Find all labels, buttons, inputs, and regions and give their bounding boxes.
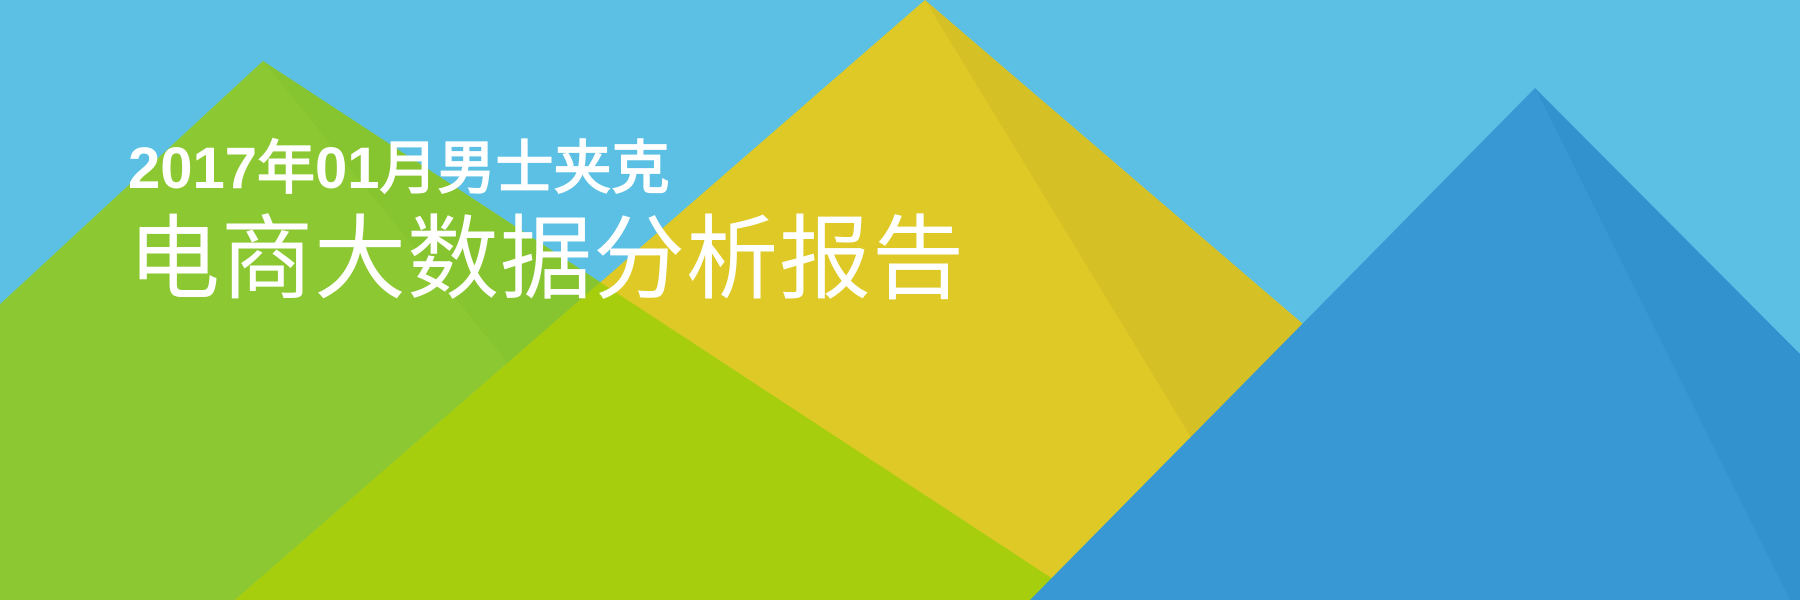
background-geometry: [0, 0, 1800, 600]
title-slide: 2017年01月男士夹克 电商大数据分析报告: [0, 0, 1800, 600]
